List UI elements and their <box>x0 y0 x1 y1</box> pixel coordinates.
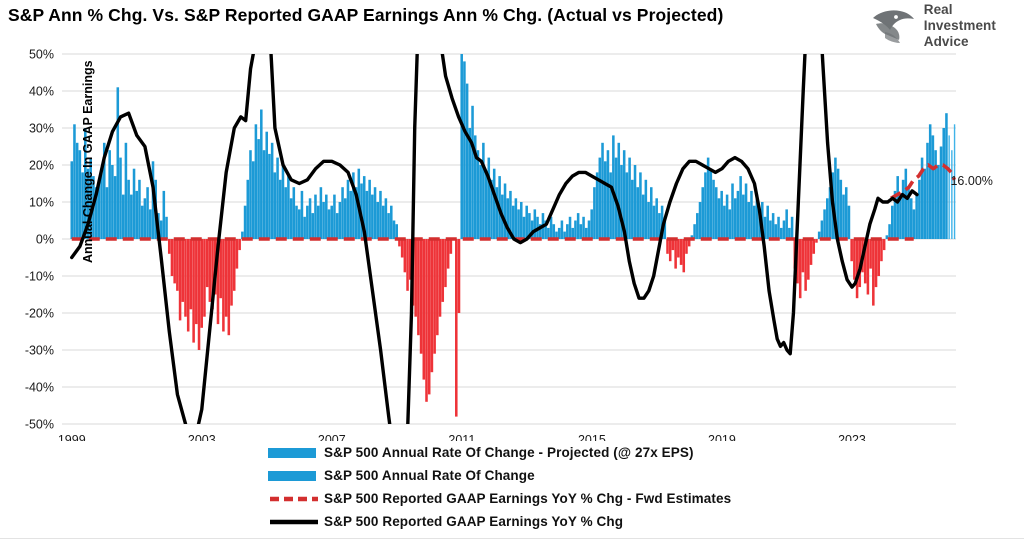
legend-label-gaap-yoy: S&P 500 Reported GAAP Earnings YoY % Chg <box>324 514 623 529</box>
svg-text:2023: 2023 <box>838 433 866 441</box>
svg-text:50%: 50% <box>29 48 54 62</box>
legend-label-fwd-estimates: S&P 500 Reported GAAP Earnings YoY % Chg… <box>324 491 731 506</box>
brand-name: Real Investment Advice <box>924 2 996 50</box>
svg-text:2011: 2011 <box>448 433 475 441</box>
svg-text:40%: 40% <box>29 85 54 99</box>
x-axis-ticks: 1999200320072011201520192023 <box>58 433 866 441</box>
bar-series <box>70 54 1024 417</box>
legend-label-projected: S&P 500 Annual Rate Of Change - Projecte… <box>324 445 694 460</box>
svg-text:20%: 20% <box>29 159 54 173</box>
chart-header: S&P Ann % Chg. Vs. S&P Reported GAAP Ear… <box>0 0 1024 46</box>
brand-logo: Real Investment Advice <box>872 2 996 50</box>
svg-text:2007: 2007 <box>318 433 346 441</box>
legend-label-actual-bars: S&P 500 Annual Rate Of Change <box>324 468 535 483</box>
legend-item-gaap-yoy[interactable]: S&P 500 Reported GAAP Earnings YoY % Chg <box>268 510 868 533</box>
svg-text:30%: 30% <box>29 122 54 136</box>
chart-canvas: 50%40%30%20%10%0%-10%-20%-30%-40%-50% 19… <box>0 46 1024 441</box>
legend-item-fwd-estimates[interactable]: S&P 500 Reported GAAP Earnings YoY % Chg… <box>268 487 868 510</box>
end-value-label: 16.00% <box>950 174 992 188</box>
brand-line-2: Investment <box>924 18 996 34</box>
chart-annotations: 16.00% <box>950 174 992 188</box>
legend-swatch-actual-icon <box>268 464 324 487</box>
svg-text:2019: 2019 <box>708 433 736 441</box>
svg-text:-40%: -40% <box>25 381 54 395</box>
svg-text:2015: 2015 <box>578 433 606 441</box>
svg-text:2003: 2003 <box>188 433 216 441</box>
svg-text:-30%: -30% <box>25 344 54 358</box>
svg-text:10%: 10% <box>29 196 54 210</box>
y-axis-title: Annual Change In GAAP Earnings <box>81 83 95 263</box>
y-axis-ticks: 50%40%30%20%10%0%-10%-20%-30%-40%-50% <box>25 48 54 432</box>
svg-text:1999: 1999 <box>58 433 86 441</box>
legend-solid-line-icon <box>268 510 324 533</box>
chart-legend: S&P 500 Annual Rate Of Change - Projecte… <box>268 441 868 533</box>
svg-text:-10%: -10% <box>25 270 54 284</box>
page-title: S&P Ann % Chg. Vs. S&P Reported GAAP Ear… <box>8 5 723 26</box>
plot-area: Annual Change In GAAP Earnings 50%40%30%… <box>0 46 1024 441</box>
svg-text:-50%: -50% <box>25 418 54 432</box>
legend-item-projected[interactable]: S&P 500 Annual Rate Of Change - Projecte… <box>268 441 868 464</box>
chart-screenshot: S&P Ann % Chg. Vs. S&P Reported GAAP Ear… <box>0 0 1024 539</box>
svg-text:0%: 0% <box>36 233 54 247</box>
svg-text:-20%: -20% <box>25 307 54 321</box>
brand-line-1: Real <box>924 2 996 18</box>
eagle-head-icon <box>872 5 916 47</box>
legend-swatch-projected-icon <box>268 441 324 464</box>
legend-item-actual-bars[interactable]: S&P 500 Annual Rate Of Change <box>268 464 868 487</box>
legend-dashed-line-icon <box>268 487 324 510</box>
